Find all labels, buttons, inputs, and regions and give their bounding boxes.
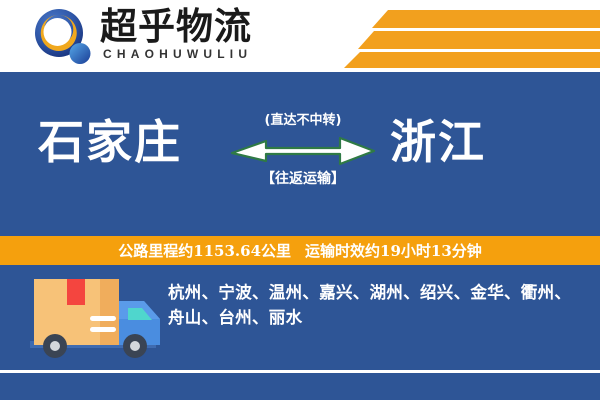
bidirectional-arrow-icon	[228, 134, 378, 168]
brand-name-cn: 超乎物流	[100, 6, 252, 46]
route-note-top: (直达不中转)	[228, 112, 378, 130]
coverage-city-list: 杭州、宁波、温州、嘉兴、湖州、绍兴、金华、衢州、舟山、台州、丽水	[168, 280, 580, 330]
bottom-divider	[0, 370, 600, 373]
duration-label: 运输时效约19小时13分钟	[305, 240, 482, 261]
route-panel: 石家庄 (直达不中转) 【往返运输】 浙江	[0, 72, 600, 236]
route-note-bottom: 【往返运输】	[228, 170, 378, 188]
circular-q-logo-icon	[32, 8, 94, 66]
route-arrow-block: (直达不中转) 【往返运输】	[228, 112, 378, 202]
route-info-bar: 公路里程约1153.64公里 运输时效约19小时13分钟	[0, 236, 600, 265]
banner-header: 超乎物流 CHAOHUWULIU	[0, 0, 600, 72]
destination-region: 浙江	[390, 106, 486, 172]
distance-label: 公路里程约1153.64公里	[118, 240, 291, 261]
origin-city: 石家庄	[38, 106, 182, 172]
brand-name-en: CHAOHUWULIU	[103, 47, 252, 61]
delivery-truck-icon	[22, 273, 167, 365]
coverage-panel: 杭州、宁波、温州、嘉兴、湖州、绍兴、金华、衢州、舟山、台州、丽水	[0, 265, 600, 400]
logistics-route-banner: 超乎物流 CHAOHUWULIU 石家庄 (直达不中转) 【往返运输】 浙江 公…	[0, 0, 600, 400]
orange-speed-stripes-icon	[330, 4, 600, 68]
